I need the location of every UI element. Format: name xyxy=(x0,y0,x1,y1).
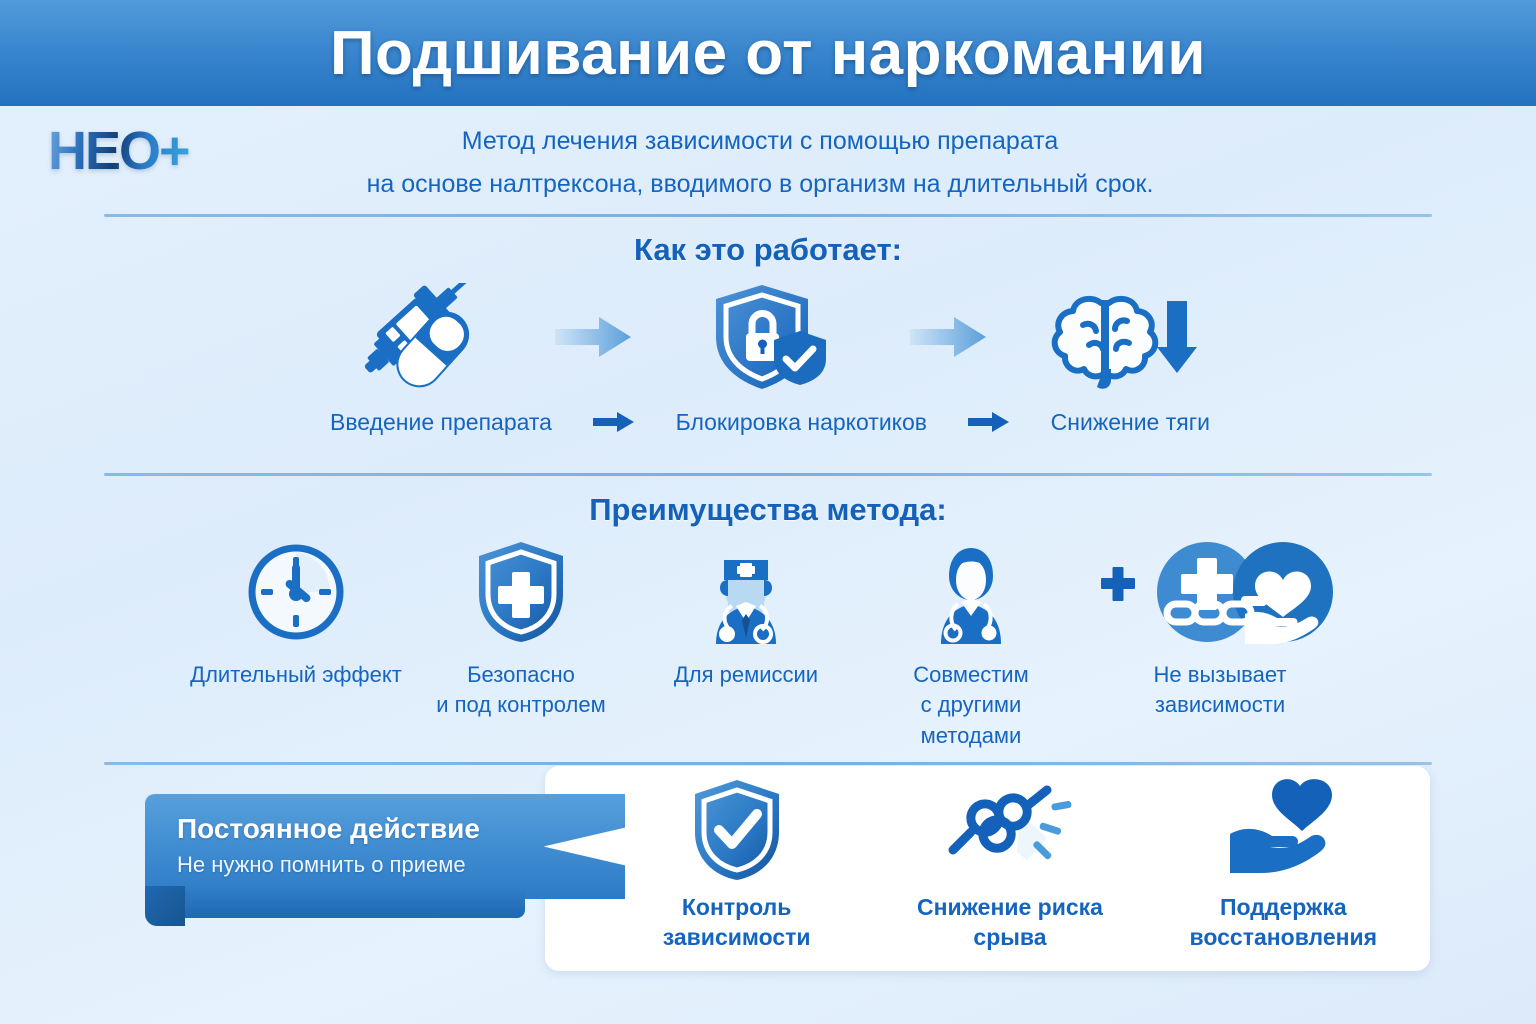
bottom-items-row: Контроль зависимости xyxy=(600,778,1420,963)
flow-labels-row: Введение препарата Блокировка наркотиков… xyxy=(330,402,1210,442)
bottom-item-control: Контроль зависимости xyxy=(609,778,864,953)
intro-line-2: на основе налтрексона, вводимого в орган… xyxy=(260,163,1260,206)
benefit-long-effect: Длительный эффект xyxy=(190,540,402,690)
flow-arrow-1-icon xyxy=(551,314,635,360)
intro-line-1: Метод лечения зависимости с помощью преп… xyxy=(260,120,1260,163)
flow-step-3-label: Снижение тяги xyxy=(1051,409,1210,436)
ribbon-title: Постоянное действие xyxy=(177,813,625,845)
flow-arrow-2-icon xyxy=(906,314,990,360)
flow-icons-row xyxy=(330,282,1210,392)
shield-lock-icon xyxy=(685,282,855,392)
divider-middle xyxy=(104,473,1432,476)
shield-check-icon xyxy=(689,778,785,882)
divider-bottom xyxy=(104,762,1432,765)
benefit-remission: Для ремиссии xyxy=(640,540,852,690)
hand-heart-icon xyxy=(1218,778,1348,882)
benefits-heading: Преимущества метода: xyxy=(0,492,1536,528)
bottom-item-relapse-risk: Снижение риска срыва xyxy=(882,778,1137,953)
bottom-item-recovery-support: Поддержка восстановления xyxy=(1156,778,1411,953)
doctor-icon xyxy=(919,540,1023,644)
benefit-safe-controlled: Безопасно и под контролем xyxy=(415,540,627,721)
benefit-compatible: Совместим с другими методами xyxy=(865,540,1077,751)
page-header: Подшивание от наркомании xyxy=(0,0,1536,106)
chain-heart-circles-icon xyxy=(1095,540,1345,644)
benefit-no-dependency-label: Не вызывает зависимости xyxy=(1154,660,1287,721)
flow-step-2-label: Блокировка наркотиков xyxy=(676,409,927,436)
broken-chain-icon xyxy=(935,778,1085,882)
bottom-item-relapse-risk-label: Снижение риска срыва xyxy=(882,892,1137,953)
benefit-no-dependency: Не вызывает зависимости xyxy=(1090,540,1350,721)
brain-down-arrow-icon xyxy=(1040,282,1210,392)
intro-text: Метод лечения зависимости с помощью преп… xyxy=(260,120,1260,206)
bottom-item-control-label: Контроль зависимости xyxy=(609,892,864,953)
how-it-works-heading: Как это работает: xyxy=(0,232,1536,268)
bottom-item-recovery-support-label: Поддержка восстановления xyxy=(1190,892,1378,953)
page-title: Подшивание от наркомании xyxy=(330,18,1206,89)
divider-top xyxy=(104,214,1432,217)
flow-step-1-label: Введение препарата xyxy=(330,409,552,436)
shield-cross-icon xyxy=(475,540,567,644)
ribbon-fold xyxy=(145,886,185,926)
benefit-safe-controlled-label: Безопасно и под контролем xyxy=(436,660,606,721)
syringe-capsule-icon xyxy=(330,282,500,392)
benefit-remission-label: Для ремиссии xyxy=(674,660,818,690)
flow-label-arrow-2-icon xyxy=(966,409,1012,435)
clock-icon xyxy=(246,540,346,644)
how-it-works-flow: Введение препарата Блокировка наркотиков… xyxy=(330,282,1210,452)
flow-label-arrow-1-icon xyxy=(591,409,637,435)
benefits-row: Длительный эффект Безопасно и под контро… xyxy=(190,540,1350,740)
intro-section: НЕО+ Метод лечения зависимости с помощью… xyxy=(0,106,1536,216)
brand-logo: НЕО+ xyxy=(48,120,189,182)
doctor-nurse-icon xyxy=(694,540,798,644)
benefit-long-effect-label: Длительный эффект xyxy=(190,660,402,690)
benefit-compatible-label: Совместим с другими методами xyxy=(913,660,1028,751)
ribbon-tail xyxy=(145,890,525,918)
ribbon-subtitle: Не нужно помнить о приеме xyxy=(177,852,625,878)
